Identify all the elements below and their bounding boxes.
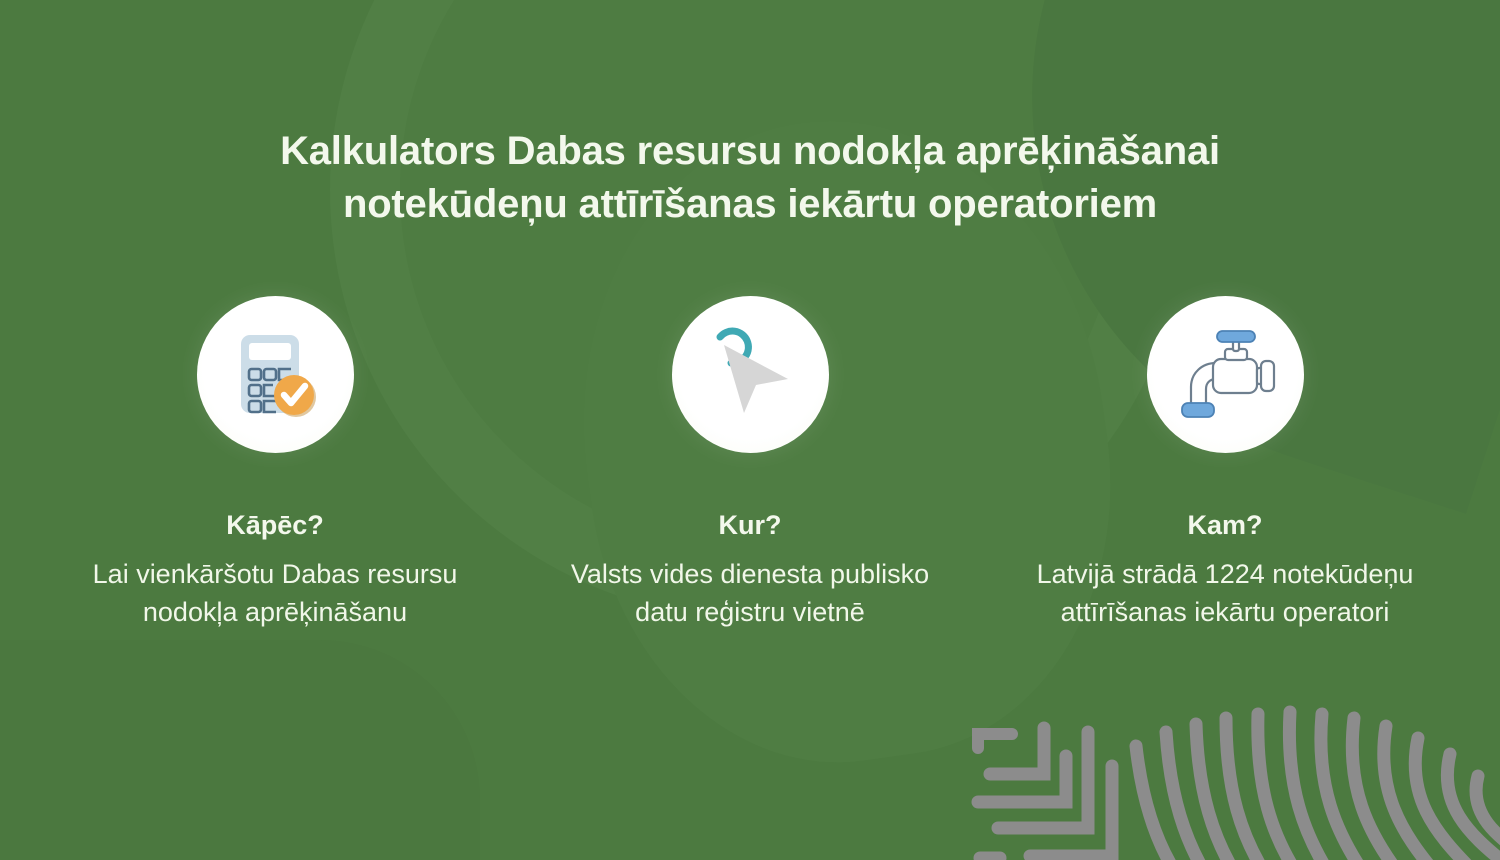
background-corner-shade — [0, 640, 480, 860]
icon-badge-calculator — [197, 296, 354, 453]
column-kapec: Kāpēc? Lai vienkāršotu Dabas resursu nod… — [60, 296, 490, 631]
fingerprint-pattern-icon — [960, 670, 1500, 860]
page-title-line-1: Kalkulators Dabas resursu nodokļa aprēķi… — [120, 125, 1380, 179]
column-body-kapec: Lai vienkāršotu Dabas resursu nodokļa ap… — [75, 555, 475, 632]
column-heading-kapec: Kāpēc? — [226, 511, 324, 541]
icon-badge-cursor — [672, 296, 829, 453]
feature-columns: Kāpēc? Lai vienkāršotu Dabas resursu nod… — [60, 296, 1440, 631]
page-title-line-2: notekūdeņu attīrīšanas iekārtu operatori… — [120, 178, 1380, 232]
column-kur: Kur? Valsts vides dienesta publisko datu… — [535, 296, 965, 631]
infographic-poster: Kalkulators Dabas resursu nodokļa aprēķi… — [0, 0, 1500, 860]
calculator-check-icon — [223, 323, 327, 427]
page-title: Kalkulators Dabas resursu nodokļa aprēķi… — [0, 125, 1500, 232]
column-heading-kam: Kam? — [1187, 511, 1262, 541]
water-faucet-icon — [1173, 323, 1277, 427]
mouse-cursor-click-icon — [698, 323, 802, 427]
column-body-kam: Latvijā strādā 1224 notekūdeņu attīrīšan… — [1025, 555, 1425, 632]
column-body-kur: Valsts vides dienesta publisko datu reģi… — [550, 555, 950, 632]
column-heading-kur: Kur? — [719, 511, 782, 541]
icon-badge-faucet — [1147, 296, 1304, 453]
column-kam: Kam? Latvijā strādā 1224 notekūdeņu attī… — [1010, 296, 1440, 631]
